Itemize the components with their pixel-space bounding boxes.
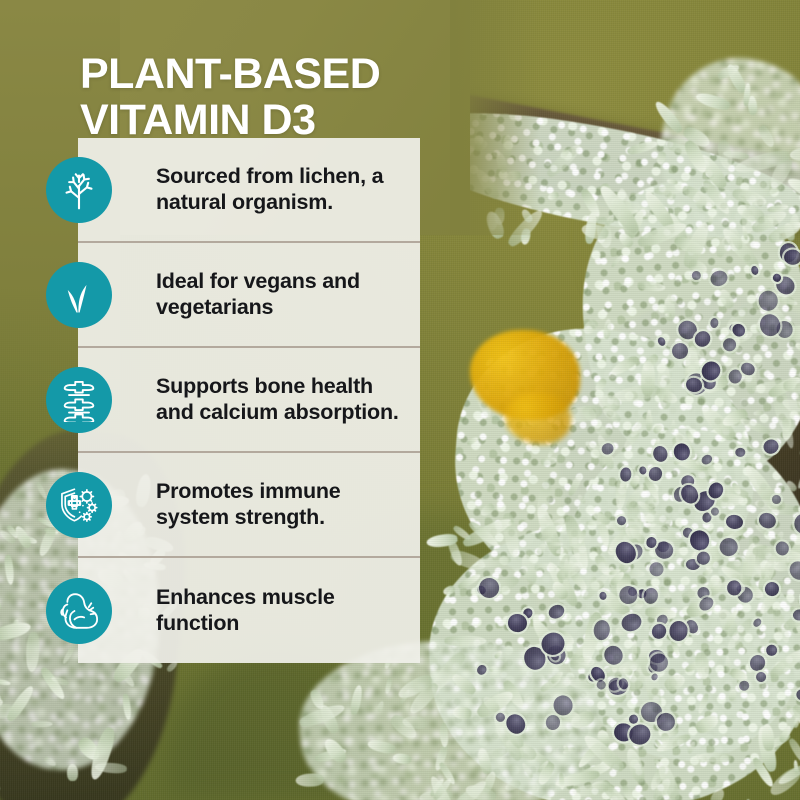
list-item-label: Sourced from lichen, a natural organism. <box>156 164 406 214</box>
list-item-label: Supports bone health and calcium absorpt… <box>156 374 406 424</box>
page-title-line-1: PLANT-BASED <box>80 51 500 97</box>
sprout-leaf-icon <box>46 262 112 328</box>
list-item: Promotes immune system strength. <box>78 453 420 558</box>
feature-list-panel: Sourced from lichen, a natural organism.… <box>78 138 420 663</box>
poster-canvas: PLANT-BASED VITAMIN D3 Sourced from lich… <box>0 0 800 800</box>
spine-vertebrae-icon <box>46 367 112 433</box>
list-item: Ideal for vegans and vegetarians <box>78 243 420 348</box>
flexed-bicep-icon <box>46 578 112 644</box>
page-title: PLANT-BASED VITAMIN D3 <box>80 51 500 143</box>
list-item-label: Enhances muscle function <box>156 585 406 635</box>
list-item-label: Ideal for vegans and vegetarians <box>156 269 406 319</box>
list-item: Supports bone health and calcium absorpt… <box>78 348 420 453</box>
list-item-label: Promotes immune system strength. <box>156 479 406 529</box>
shield-virus-icon <box>46 472 112 538</box>
page-title-line-2: VITAMIN D3 <box>80 97 500 143</box>
lichen-icon <box>46 157 112 223</box>
list-item: Sourced from lichen, a natural organism. <box>78 138 420 243</box>
list-item: Enhances muscle function <box>78 558 420 663</box>
